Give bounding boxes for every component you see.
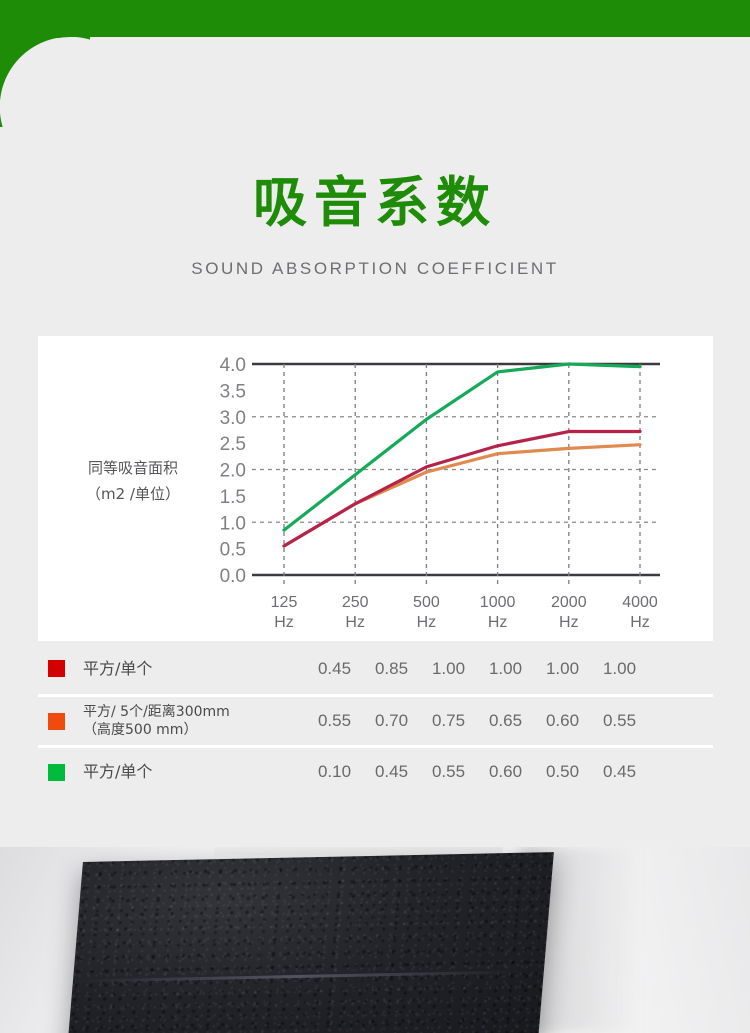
table-cell: 0.65 xyxy=(477,711,534,731)
x-axis-tick-unit: Hz xyxy=(630,614,650,631)
x-axis-tick-unit: Hz xyxy=(274,614,294,631)
y-axis-tick-label: 3.5 xyxy=(220,381,246,402)
page-root: 吸音系数 SOUND ABSORPTION COEFFICIENT 同等吸音面积… xyxy=(0,0,750,1033)
table-cell: 0.85 xyxy=(363,659,420,679)
table-cell: 0.55 xyxy=(420,762,477,782)
table-cell: 0.45 xyxy=(306,659,363,679)
table-cell: 0.60 xyxy=(477,762,534,782)
table-cell: 0.75 xyxy=(420,711,477,731)
x-axis-tick-label: 125 xyxy=(271,594,298,611)
table-cell: 1.00 xyxy=(591,659,648,679)
coefficient-table: 平方/单个0.450.851.001.001.001.00平方/ 5个/距离30… xyxy=(38,643,713,803)
x-axis-tick-label: 250 xyxy=(342,594,369,611)
table-row-values: 0.550.700.750.650.600.55 xyxy=(306,697,648,745)
y-axis-tick-label: 3.0 xyxy=(220,408,246,429)
header-green-band xyxy=(0,0,750,38)
table-cell: 1.00 xyxy=(420,659,477,679)
table-row: 平方/ 5个/距离300mm （高度500 mm）0.550.700.750.6… xyxy=(38,694,713,745)
table-row-label: 平方/ 5个/距离300mm （高度500 mm） xyxy=(83,703,230,739)
table-cell: 0.45 xyxy=(591,762,648,782)
legend-swatch-icon xyxy=(48,764,65,781)
table-row-values: 0.100.450.550.600.500.45 xyxy=(306,748,648,796)
panel-corner-accent xyxy=(0,37,90,127)
x-axis-tick-label: 1000 xyxy=(480,594,516,611)
page-title: 吸音系数 xyxy=(0,172,750,234)
absorption-line-chart: 0.00.51.01.52.02.53.03.54.0125Hz250Hz500… xyxy=(200,350,670,635)
y-axis-tick-label: 0.0 xyxy=(220,566,246,587)
legend-swatch-icon xyxy=(48,660,65,677)
table-row: 平方/单个0.450.851.001.001.001.00 xyxy=(38,643,713,694)
y-axis-tick-label: 4.0 xyxy=(220,355,246,376)
table-cell: 0.45 xyxy=(363,762,420,782)
table-cell: 1.00 xyxy=(534,659,591,679)
table-cell: 0.60 xyxy=(534,711,591,731)
x-axis-tick-unit: Hz xyxy=(488,614,508,631)
photo-foam-block xyxy=(66,852,554,1033)
x-axis-tick-unit: Hz xyxy=(559,614,579,631)
y-axis-title-line1: 同等吸音面积 xyxy=(48,455,218,481)
y-axis-tick-label: 0.5 xyxy=(220,540,246,561)
x-axis-tick-label: 2000 xyxy=(551,594,587,611)
y-axis-tick-label: 2.0 xyxy=(220,461,246,482)
product-photo xyxy=(0,847,750,1033)
table-cell: 1.00 xyxy=(477,659,534,679)
page-subtitle: SOUND ABSORPTION COEFFICIENT xyxy=(0,259,750,279)
table-cell: 0.10 xyxy=(306,762,363,782)
chart-series-line xyxy=(284,445,640,546)
chart-y-axis-title: 同等吸音面积 （m2 /单位） xyxy=(48,455,218,507)
y-axis-title-line2: （m2 /单位） xyxy=(48,481,218,507)
x-axis-tick-label: 500 xyxy=(413,594,440,611)
table-row-label: 平方/单个 xyxy=(83,659,152,679)
table-cell: 0.55 xyxy=(591,711,648,731)
y-axis-tick-label: 1.0 xyxy=(220,513,246,534)
x-axis-tick-label: 4000 xyxy=(622,594,658,611)
table-row: 平方/单个0.100.450.550.600.500.45 xyxy=(38,745,713,796)
table-cell: 0.70 xyxy=(363,711,420,731)
x-axis-tick-unit: Hz xyxy=(345,614,365,631)
y-axis-tick-label: 1.5 xyxy=(220,487,246,508)
x-axis-tick-unit: Hz xyxy=(417,614,437,631)
y-axis-tick-label: 2.5 xyxy=(220,434,246,455)
legend-swatch-icon xyxy=(48,713,65,730)
table-cell: 0.50 xyxy=(534,762,591,782)
table-row-values: 0.450.851.001.001.001.00 xyxy=(306,643,648,694)
table-cell: 0.55 xyxy=(306,711,363,731)
table-row-label: 平方/单个 xyxy=(83,762,152,782)
